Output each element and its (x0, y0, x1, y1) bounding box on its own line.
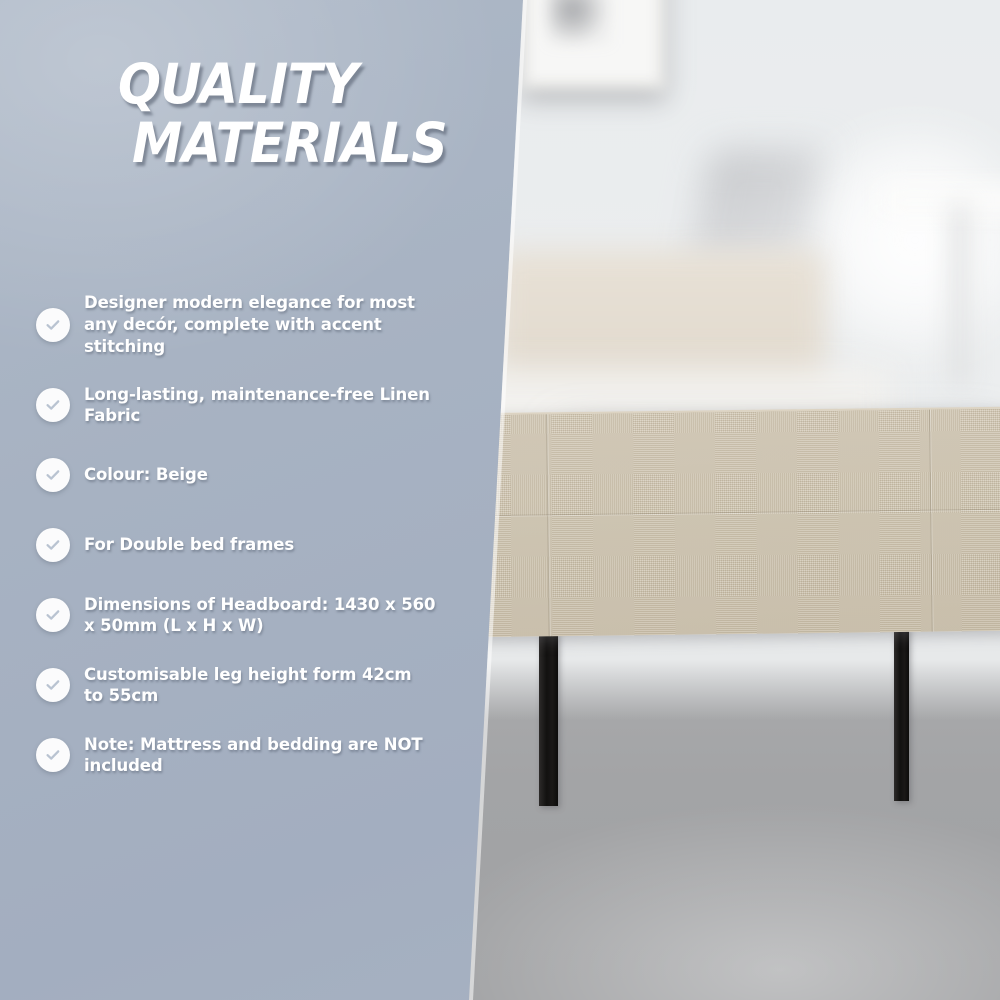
headline-line-2: MATERIALS (132, 117, 450, 170)
headboard-leg-left (539, 632, 558, 806)
feature-list: Designer modern elegance for most any de… (36, 292, 436, 803)
check-circle-icon (36, 388, 70, 422)
list-item-label: Note: Mattress and bedding are NOT inclu… (84, 734, 436, 778)
list-item: Note: Mattress and bedding are NOT inclu… (36, 733, 436, 777)
check-circle-icon (36, 668, 70, 702)
list-item-label: Colour: Beige (84, 464, 208, 486)
list-item: Colour: Beige (36, 453, 436, 497)
list-item: Designer modern elegance for most any de… (36, 292, 436, 357)
headboard-leg-right (894, 628, 909, 801)
stitch-line-vertical-right (929, 410, 933, 632)
list-item-label: Dimensions of Headboard: 1430 x 560 x 50… (84, 594, 436, 638)
list-item-label: Long-lasting, maintenance-free Linen Fab… (84, 384, 436, 428)
side-table-leg (952, 205, 968, 385)
page-title: QUALITY MATERIALS (118, 58, 478, 171)
artwork-ink-detail (548, 0, 610, 44)
list-item: Dimensions of Headboard: 1430 x 560 x 50… (36, 593, 436, 637)
product-feature-graphic: QUALITY MATERIALS Designer modern elegan… (0, 0, 1000, 1000)
list-item-label: For Double bed frames (84, 534, 294, 556)
side-table-top (880, 185, 1000, 215)
check-circle-icon (36, 458, 70, 492)
stitch-line-vertical-left (546, 414, 550, 636)
stitch-line-horizontal (411, 509, 1000, 517)
check-circle-icon (36, 308, 70, 342)
headline-line-1: QUALITY (118, 58, 449, 111)
check-circle-icon (36, 738, 70, 772)
check-circle-icon (36, 528, 70, 562)
list-item: For Double bed frames (36, 523, 436, 567)
list-item-label: Customisable leg height form 42cm to 55c… (84, 664, 436, 708)
list-item-label: Designer modern elegance for most any de… (84, 292, 436, 357)
list-item: Customisable leg height form 42cm to 55c… (36, 663, 436, 707)
check-circle-icon (36, 598, 70, 632)
list-item: Long-lasting, maintenance-free Linen Fab… (36, 383, 436, 427)
